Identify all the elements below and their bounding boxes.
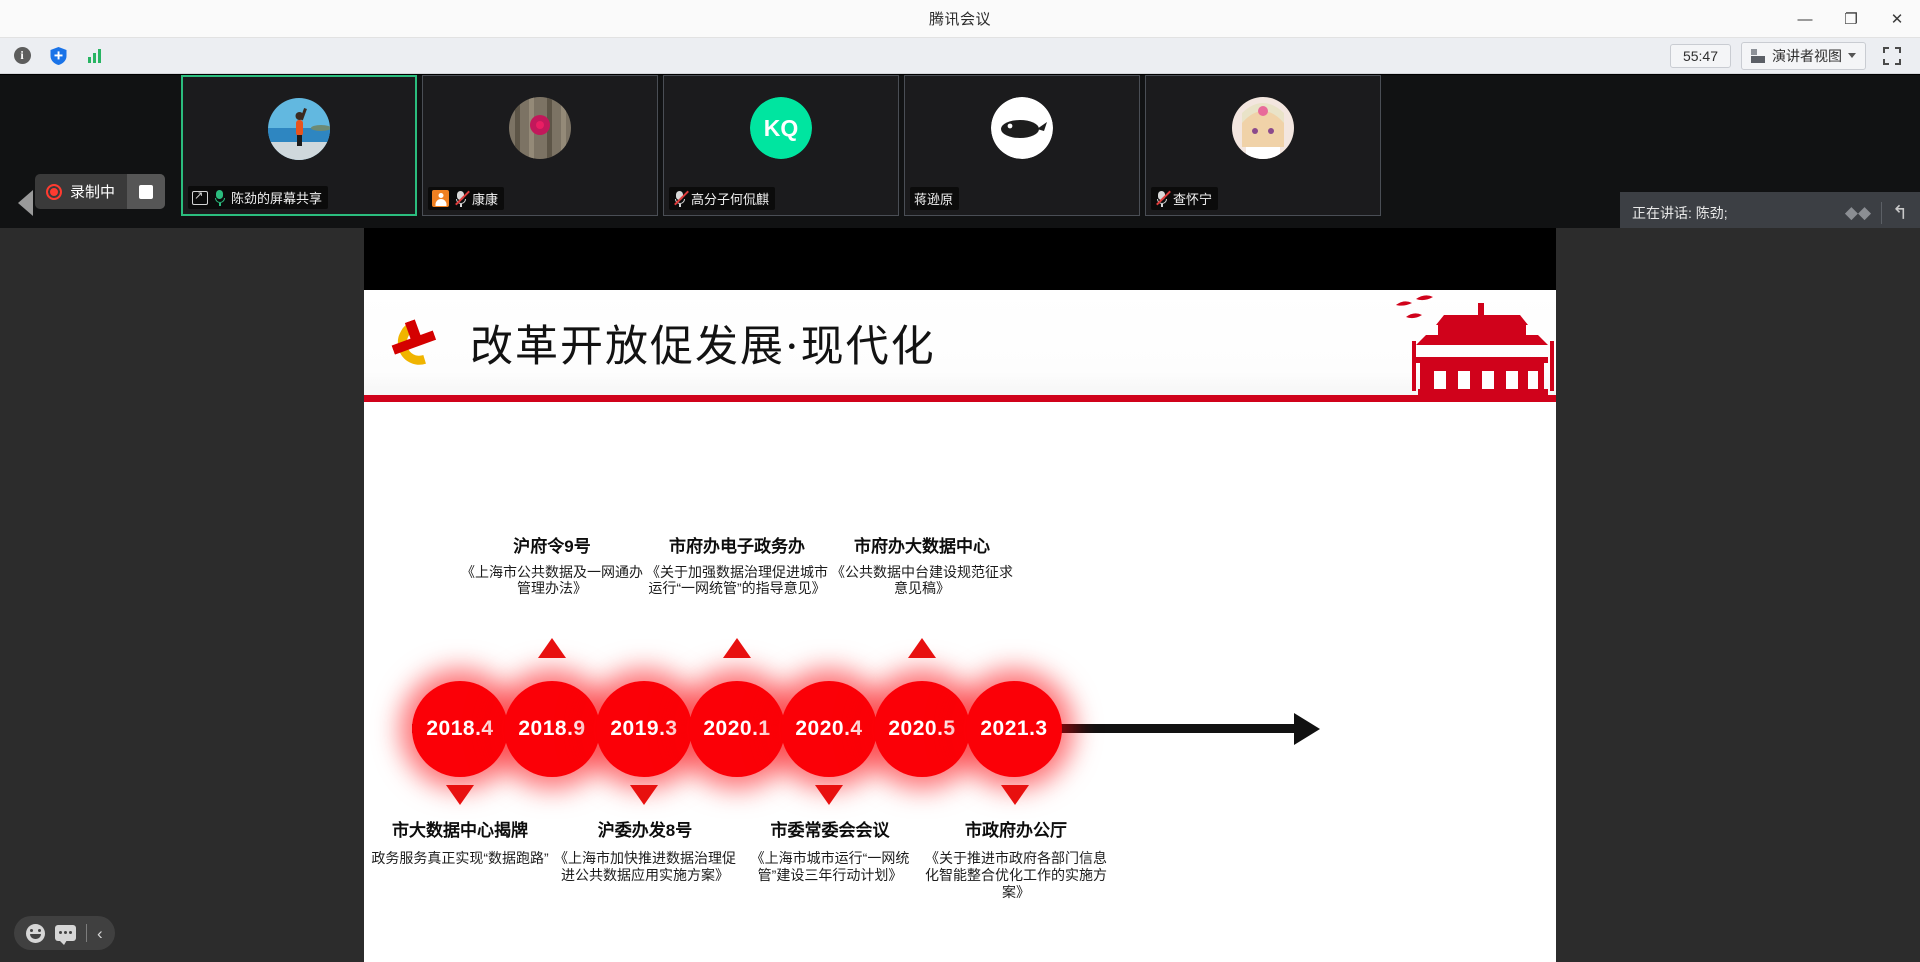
floating-dock: ‹ [14,916,115,950]
participant-tile[interactable]: 查怀宁 [1145,75,1381,216]
person-icon [432,190,449,207]
speaker-view-icon [1751,49,1766,63]
caption-body: 《关于加强数据治理促进城市运行“一网统管”的指导意见》 [642,564,832,597]
timeline-arrow-icon [1294,713,1320,745]
toolbar-right-group: 55:47 演讲者视图 [1670,42,1920,70]
caption-body: 政务服务真正实现“数据跑路” [365,850,555,867]
slide-title: 改革开放促发展·现代化 [470,312,936,374]
view-mode-label: 演讲者视图 [1772,46,1842,66]
slide-header-rule [364,395,1556,402]
timeline-node: 2020.1 [689,681,785,777]
app-title: 腾讯会议 [929,8,991,29]
timeline-marker-down [815,785,843,805]
participant-tiles: 陈劲的屏幕共享 康康 [181,75,1381,216]
divider [1881,202,1882,224]
participant-filmstrip: 录制中 [0,75,1920,228]
avatar [509,97,571,159]
audio-wave-icon: ◆◆ [1845,203,1871,223]
timeline-marker-down [630,785,658,805]
participant-name: 蒋逊原 [914,189,953,208]
divider [86,924,87,942]
avatar: KQ [750,97,812,159]
timeline-caption-top: 沪府令9号 《上海市公共数据及一网通办管理办法》 [457,532,647,597]
tile-label: 蒋逊原 [910,187,959,210]
timeline-marker-up [908,638,936,658]
security-shield-icon[interactable] [42,42,74,70]
avatar [1232,97,1294,159]
chevron-down-icon [1848,53,1856,58]
microphone-on-icon [213,189,226,206]
reply-arrow-icon[interactable]: ↰ [1892,202,1908,225]
avatar [268,98,330,160]
collapse-dock-icon[interactable]: ‹ [97,925,103,942]
timeline-node: 2018.9 [504,681,600,777]
shield-glyph [49,46,68,66]
network-signal-icon[interactable] [78,42,110,70]
presentation-slide: 改革开放促发展·现代化 [364,290,1556,962]
participant-name: 高分子何侃麒 [691,189,769,208]
signal-bars-glyph [88,48,101,63]
timeline-caption-bottom: 市政府办公厅 《关于推进市政府各部门信息化智能整合优化工作的实施方案》 [921,816,1111,900]
recording-label: 录制中 [70,181,127,202]
tile-label: 查怀宁 [1151,187,1218,210]
timeline: 2018.4 2018.9 2019.3 2020.1 2020.4 2020.… [364,402,1556,962]
avatar-photo-whale [991,97,1053,159]
caption-body: 《上海市城市运行“一网统管”建设三年行动计划》 [735,850,925,884]
window-title-bar: 腾讯会议 — ❐ ✕ [0,0,1920,38]
timeline-caption-bottom: 市大数据中心揭牌 政务服务真正实现“数据跑路” [365,816,555,867]
participant-name: 康康 [472,189,498,208]
timeline-marker-up [538,638,566,658]
participant-tile[interactable]: 康康 [422,75,658,216]
microphone-muted-icon [1155,190,1168,207]
caption-title: 沪府令9号 [457,532,647,557]
participant-name: 查怀宁 [1173,189,1212,208]
tile-label: 高分子何侃麒 [669,187,775,210]
close-button[interactable]: ✕ [1874,0,1920,38]
svg-text:KQ: KQ [764,115,799,141]
participant-tile[interactable]: KQ 高分子何侃麒 [663,75,899,216]
microphone-muted-icon [454,190,467,207]
timeline-caption-top: 市府办大数据中心 《公共数据中台建设规范征求意见稿》 [827,532,1017,597]
stop-recording-button[interactable] [127,174,165,209]
fullscreen-icon [1883,47,1901,65]
caption-title: 市政府办公厅 [921,816,1111,841]
timeline-node: 2019.3 [596,681,692,777]
screen-share-icon [192,191,208,205]
speaking-label: 正在讲话: 陈劲; [1632,203,1728,223]
info-glyph: i [14,47,31,64]
meeting-toolbar: i 55:47 演讲者视图 [0,38,1920,74]
participant-name: 陈劲的屏幕共享 [231,188,322,207]
timeline-node: 2021.3 [966,681,1062,777]
timeline-node: 2018.4 [412,681,508,777]
timeline-marker-down [1001,785,1029,805]
caption-body: 《上海市加快推进数据治理促进公共数据应用实施方案》 [550,850,740,884]
caption-title: 市大数据中心揭牌 [365,816,555,841]
caption-body: 《关于推进市政府各部门信息化智能整合优化工作的实施方案》 [921,850,1111,900]
tiananmen-art-icon [1266,295,1556,395]
window-controls: — ❐ ✕ [1782,0,1920,38]
slide-header: 改革开放促发展·现代化 [364,290,1556,395]
chat-bubble-icon[interactable] [55,925,76,941]
emoji-reaction-icon[interactable] [26,924,45,943]
timeline-caption-top: 市府办电子政务办 《关于加强数据治理促进城市运行“一网统管”的指导意见》 [642,532,832,597]
avatar-photo-beach [268,98,330,160]
fullscreen-button[interactable] [1876,42,1908,70]
caption-title: 沪委办发8号 [550,816,740,841]
recording-badge: 录制中 [35,174,165,209]
participant-tile[interactable]: 陈劲的屏幕共享 [181,75,417,216]
caption-title: 市府办电子政务办 [642,532,832,557]
timeline-node: 2020.5 [874,681,970,777]
toolbar-left-group: i [0,42,110,70]
timeline-node: 2020.4 [781,681,877,777]
info-icon[interactable]: i [6,42,38,70]
caption-body: 《公共数据中台建设规范征求意见稿》 [827,564,1017,597]
view-mode-dropdown[interactable]: 演讲者视图 [1741,42,1866,70]
meeting-timer: 55:47 [1670,44,1731,68]
minimize-button[interactable]: — [1782,0,1828,38]
avatar-photo-anime [1232,97,1294,159]
party-emblem-icon [382,313,456,373]
avatar [991,97,1053,159]
timeline-caption-bottom: 市委常委会会议 《上海市城市运行“一网统管”建设三年行动计划》 [735,816,925,884]
timeline-marker-down [446,785,474,805]
shared-screen-stage: 改革开放促发展·现代化 [0,228,1920,962]
microphone-muted-icon [673,190,686,207]
timeline-caption-bottom: 沪委办发8号 《上海市加快推进数据治理促进公共数据应用实施方案》 [550,816,740,884]
caption-body: 《上海市公共数据及一网通办管理办法》 [457,564,647,597]
participant-tile[interactable]: 蒋逊原 [904,75,1140,216]
shared-screen-content: 改革开放促发展·现代化 [364,228,1556,962]
avatar-initials-kq: KQ [750,97,812,159]
avatar-photo-flower [509,97,571,159]
record-dot-icon [46,184,62,200]
maximize-button[interactable]: ❐ [1828,0,1874,38]
tile-label: 陈劲的屏幕共享 [188,186,328,209]
caption-title: 市府办大数据中心 [827,532,1017,557]
previous-participants-icon[interactable] [18,190,33,216]
caption-title: 市委常委会会议 [735,816,925,841]
tile-label: 康康 [428,187,504,210]
timeline-marker-up [723,638,751,658]
